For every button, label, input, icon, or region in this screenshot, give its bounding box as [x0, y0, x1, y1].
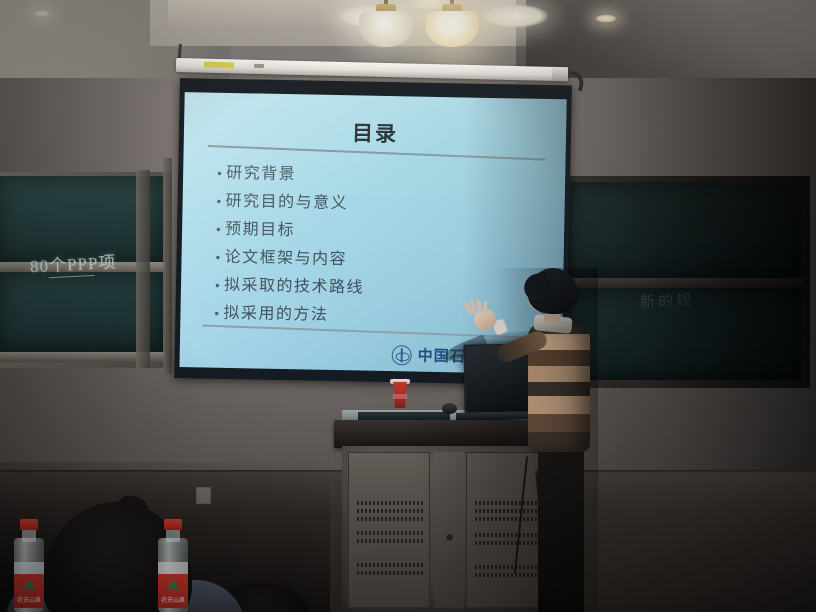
wall-jamb-left — [163, 158, 172, 374]
housing-yellow-label — [204, 62, 234, 69]
bottle-label-top — [158, 562, 188, 574]
bottle-brand-text: 农夫山泉 — [158, 595, 188, 604]
ceiling-lamp-far-right — [482, 4, 548, 28]
housing-end-cap — [552, 67, 568, 81]
bottle-neck — [166, 528, 180, 542]
housing-marking — [254, 64, 264, 68]
bottle-neck — [22, 528, 36, 542]
presenter-person — [492, 268, 598, 612]
chalk-writing-left: 80个PPP项 — [29, 248, 117, 279]
bottle-cap — [164, 519, 182, 530]
bottle-label-top — [14, 562, 44, 574]
computer-mouse — [442, 403, 457, 414]
bottle-cap — [20, 519, 38, 530]
bottle-brand-text: 农夫山泉 — [14, 595, 44, 604]
lecture-room-photo: 80个PPP项 新的规 目录 • 研究背景 • — [0, 0, 816, 612]
chalk-text-left: 80个PPP项 — [30, 253, 117, 276]
blackboard-left-post — [136, 170, 150, 368]
recessed-downlight-right — [594, 14, 618, 23]
cup-band — [393, 394, 407, 399]
presenter-shading — [492, 268, 598, 612]
recessed-downlight-left — [33, 10, 51, 17]
